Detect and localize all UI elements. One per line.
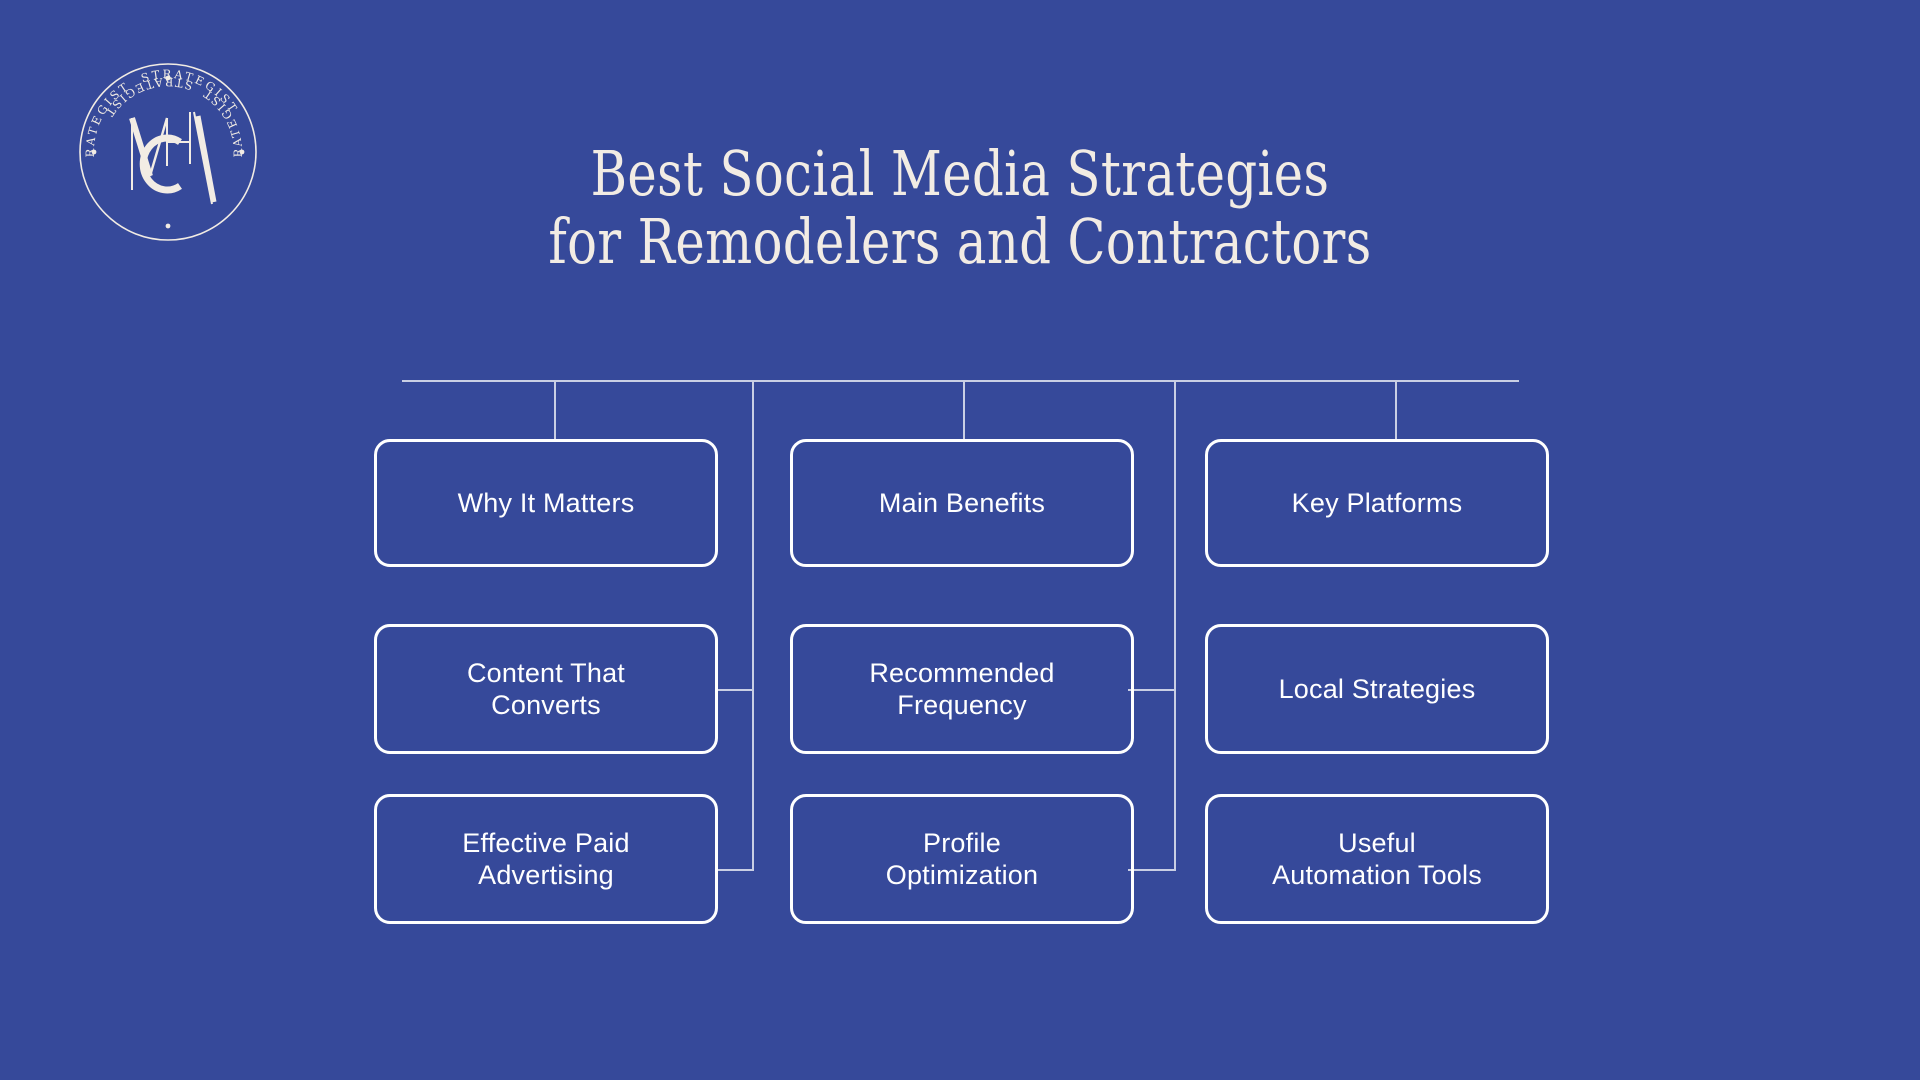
node-label-line-1: Content That: [467, 657, 625, 689]
node-label-line-2: Advertising: [462, 859, 629, 891]
logo-dot-top: [166, 76, 171, 81]
node-label: Key Platforms: [1292, 487, 1463, 519]
node-label-line-1: Effective Paid: [462, 827, 629, 859]
node-label-line-2: Frequency: [869, 689, 1054, 721]
node-useful-automation-tools[interactable]: Useful Automation Tools: [1205, 794, 1549, 924]
page-title: Best Social Media Strategies for Remodel…: [0, 140, 1920, 276]
connector-drop-3: [1395, 380, 1397, 439]
node-key-platforms[interactable]: Key Platforms: [1205, 439, 1549, 567]
connector-spine-right: [1174, 380, 1176, 870]
node-profile-optimization[interactable]: Profile Optimization: [790, 794, 1134, 924]
node-label-line-1: Useful: [1272, 827, 1482, 859]
connector-top-bus: [402, 380, 1519, 382]
connector-drop-2: [963, 380, 965, 439]
node-why-it-matters[interactable]: Why It Matters: [374, 439, 718, 567]
connector-spine-left: [752, 380, 754, 870]
node-content-that-converts[interactable]: Content That Converts: [374, 624, 718, 754]
node-label: Local Strategies: [1279, 673, 1476, 705]
connector-row3-mid-right: [1128, 869, 1176, 871]
connector-row2-left: [716, 689, 754, 691]
connector-drop-1: [554, 380, 556, 439]
node-label-line-1: Profile: [886, 827, 1038, 859]
node-label-line-2: Optimization: [886, 859, 1038, 891]
node-local-strategies[interactable]: Local Strategies: [1205, 624, 1549, 754]
node-label: Main Benefits: [879, 487, 1045, 519]
node-label-line-1: Recommended: [869, 657, 1054, 689]
connector-row3-left: [716, 869, 754, 871]
node-effective-paid-advertising[interactable]: Effective Paid Advertising: [374, 794, 718, 924]
node-main-benefits[interactable]: Main Benefits: [790, 439, 1134, 567]
page-title-line-2: for Remodelers and Contractors: [192, 208, 1728, 276]
node-label-line-2: Converts: [467, 689, 625, 721]
page-title-line-1: Best Social Media Strategies: [192, 140, 1728, 208]
node-recommended-frequency[interactable]: Recommended Frequency: [790, 624, 1134, 754]
node-label: Why It Matters: [458, 487, 635, 519]
node-label-line-2: Automation Tools: [1272, 859, 1482, 891]
connector-row2-mid-right: [1128, 689, 1176, 691]
